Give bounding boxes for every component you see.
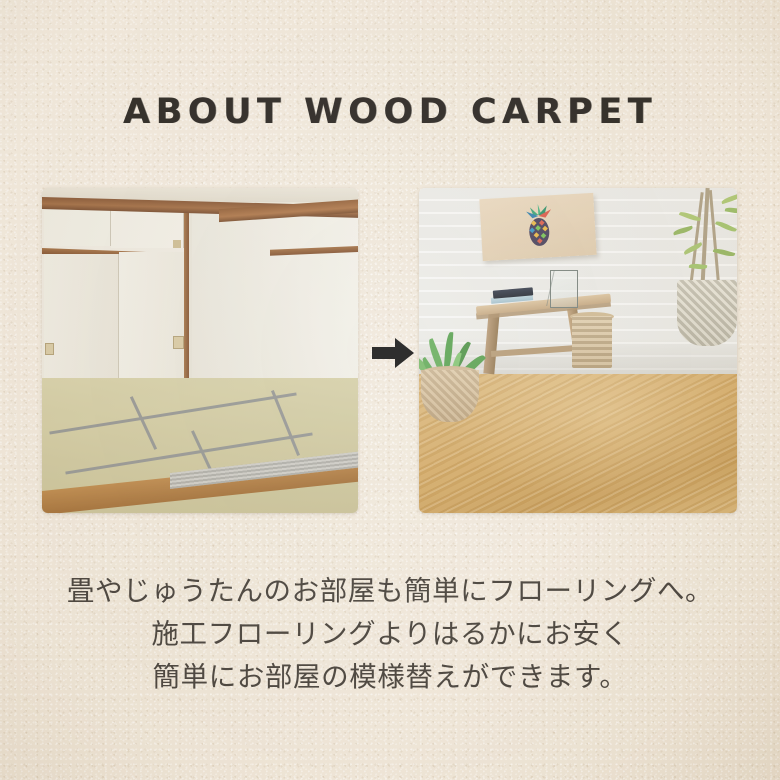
caption-line-3: 簡単にお部屋の模様替えができます。 xyxy=(0,656,780,699)
door-handle-1 xyxy=(173,336,184,349)
page-root: ABOUT WOOD CARPET xyxy=(0,0,780,780)
before-photo xyxy=(42,188,358,513)
door-handle-3 xyxy=(173,240,181,248)
after-photo xyxy=(419,188,737,513)
door-handle-2 xyxy=(45,343,54,355)
pineapple-artwork xyxy=(479,193,596,261)
caption-line-2: 施工フローリングよりはるかにお安く xyxy=(0,613,780,656)
wall-right xyxy=(192,204,358,404)
plant-basket xyxy=(421,370,479,422)
fusuma-upper-left xyxy=(44,206,111,246)
caption-line-1: 畳やじゅうたんのお部屋も簡単にフローリングへ。 xyxy=(0,570,780,613)
page-title: ABOUT WOOD CARPET xyxy=(0,92,780,132)
caption-block: 畳やじゅうたんのお部屋も簡単にフローリングへ。 施工フローリングよりはるかにお安… xyxy=(0,570,780,699)
tall-plant-basket xyxy=(677,280,737,346)
woven-basket xyxy=(572,316,612,368)
arrow-right-icon xyxy=(371,336,415,370)
